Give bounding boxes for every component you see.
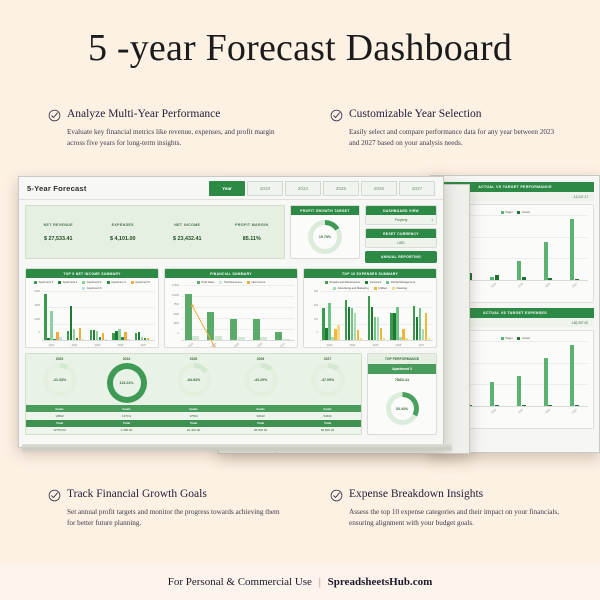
chart-top-10-expenses-summary: TOP 10 EXPENSES SUMMARY Repairs and Main… [303,268,437,348]
bar [102,333,104,340]
chart-legend: Total SalesTotal ExpensesNet Income [165,278,297,285]
bar-group [535,341,562,406]
chart-legend: Repairs and MaintenanceInsuranceRental M… [304,278,436,291]
bar [147,338,149,340]
check-circle-icon [48,489,61,502]
table-cell: 33643 [227,412,294,419]
check-circle-icon [330,489,343,502]
feature-title: Customizable Year Selection [349,108,482,121]
year-tab-2027[interactable]: 2027 [399,181,435,196]
y-axis-tick: 200 [314,305,318,308]
bar [383,338,385,340]
bar [570,219,574,280]
goal-donut-year: 2023 [56,357,64,361]
profit-growth-gauge: 15.78% [308,220,342,254]
legend-item: Apartment 5 [131,281,150,284]
dashboard-window: 5-Year Forecast Year20232024202520262027… [18,176,444,448]
goal-donut-label: -84.84% [187,378,200,382]
feature-body: Set annual profit targets and monitor th… [67,507,283,529]
bar [59,337,61,341]
kpi-net-revenue: NET REVENUE $ 27,533.41 [26,223,91,242]
bar [425,313,427,340]
bar-group [64,291,87,340]
bar [99,337,101,340]
table-cell: 17563 [160,412,227,419]
y-axis-tick: 0 [178,333,179,336]
bar [544,358,548,406]
goals-row: 2023-21.33%2024113.24%2025-84.84%2026-43… [25,353,437,435]
bar-group [110,291,133,340]
bar [144,338,146,340]
chart-title: TOP 10 EXPENSES SUMMARY [304,269,436,278]
bar [357,330,359,340]
x-axis-label: 2027 [132,343,155,347]
legend-item: Repairs and Maintenance [325,281,360,284]
year-tab-2026[interactable]: 2026 [361,181,397,196]
table-cell: 60,800.00 [294,427,361,434]
dashboard-view-value: Property [395,218,408,222]
footer-usage-text: For Personal & Commercial Use [168,576,312,588]
legend-item: Actual [517,337,529,340]
table-cell: Goals [294,405,361,412]
bar [82,339,84,340]
legend-item: Apartment 2 [34,281,53,284]
bar-group [481,341,508,406]
table-cell: 2,480.00 [93,427,160,434]
footer: For Personal & Commercial Use | Spreadsh… [0,564,600,600]
chart-financial-summary: FINANCIAL SUMMARY Total SalesTotal Expen… [164,268,298,348]
bar [328,303,330,340]
annual-reporting-button[interactable]: ANNUAL REPORTING [365,251,437,263]
bar-group [388,291,411,340]
top-performance-gauge: 33.44% [386,392,419,425]
table-cell: 26,400.00 [160,427,227,434]
y-axis-tick: 4000 [34,305,40,308]
bar [93,330,95,340]
chart-title: FINANCIAL SUMMARY [165,269,297,278]
bar [368,296,370,340]
year-tab-2023[interactable]: 2023 [247,181,283,196]
legend-item: Insurance [365,281,381,284]
legend-item: Apartment 6 [82,287,101,290]
total-value-row: 12750.002,480.0026,400.0048,900.0060,800… [26,427,361,434]
stack-shadow [22,444,452,453]
bar [570,345,574,406]
bar-group [365,291,388,340]
footer-brand[interactable]: SpreadsheetsHub.com [328,576,433,588]
goal-donut-label: -21.33% [53,378,66,382]
top-performance-value: 7883.41 [368,374,436,383]
bar [351,308,353,340]
x-axis-label: 2027 [410,343,433,347]
table-cell: 1373.4 [93,412,160,419]
charts-row: TOP 5 NET INCOME SUMMARY Apartment 2Apar… [25,268,437,348]
goal-donut-year: 2027 [324,357,332,361]
kpi-profit-margin: PROFIT MARGIN 85.11% [220,223,285,242]
chevron-down-icon: ▾ [431,218,433,222]
bar-group [87,291,110,340]
table-cell: Goals [93,405,160,412]
feature-title: Track Financial Growth Goals [67,488,207,501]
year-tab-2024[interactable]: 2024 [285,181,321,196]
bar [67,331,69,340]
x-axis-label: 2023 [318,343,341,347]
y-axis-tick: 10000 [172,295,179,298]
kpi-net-income: NET INCOME $ 23,432.41 [155,223,220,242]
x-axis-label: 2026 [387,343,410,347]
bar [345,300,347,340]
bar [337,325,339,340]
page-title: 5 -year Forecast Dashboard [0,26,600,70]
bar [517,376,521,406]
goal-value-row: 108001373.4175633364354600 [26,412,361,419]
feature-body: Evaluate key financial metrics like reve… [67,127,283,149]
legend-item: Cleaning [392,287,407,290]
table-cell: 10800 [26,412,93,419]
goal-donut-year: 2025 [190,357,198,361]
bar [405,338,407,340]
check-circle-icon [330,109,343,122]
y-axis-tick: 6000 [34,291,40,294]
bar [422,329,424,340]
total-header-row: TotalTotalTotalTotalTotal [26,420,361,427]
legend-item: Target [501,211,513,214]
bar [377,317,379,340]
dashboard-title: 5-Year Forecast [27,184,87,193]
legend-item: Apartment 1 [82,281,101,284]
bar-group [561,215,588,280]
goal-donut: -84.84% [177,363,211,397]
table-cell: Goals [227,405,294,412]
table-cell: Total [227,420,294,427]
bar [44,294,46,340]
top-performance-title: TOP PERFORMANCE [368,354,436,364]
bar [544,242,548,280]
y-axis-tick: 100 [314,319,318,322]
goal-donut-year: 2026 [257,357,265,361]
bar [374,317,376,340]
legend-item: Utilities [374,287,387,290]
bar [96,331,98,340]
table-cell: 12750.00 [26,427,93,434]
chart-title: TOP 5 NET INCOME SUMMARY [26,269,158,278]
dashboard-screenshot-stack: ACTUAL VS TARGET PERFORMANCE Under the g… [18,176,442,458]
legend-item: Apartment 4 [58,281,77,284]
feature-title: Expense Breakdown Insights [349,488,483,501]
legend-item: Apartment 3 [107,281,126,284]
y-axis-tick: 12500 [172,285,179,288]
performance-status-value: -13,247.17 [573,195,588,199]
bar [490,277,494,280]
reset-currency-select[interactable]: RESET CURRENCY USD [365,228,437,248]
bar [428,338,430,340]
bar [348,307,350,340]
feature-title: Analyze Multi-Year Performance [67,108,220,121]
kpi-panel: NET REVENUE $ 27,533.41 EXPENSES $ 4,101… [25,205,285,259]
y-axis-tick: 0 [317,332,318,335]
x-axis-label: 2024 [63,343,86,347]
feature-customizable-year-selection: Customizable Year Selection Easily selec… [330,108,565,149]
page-root: 5 -year Forecast Dashboard Analyze Multi… [0,0,600,600]
feature-analyze-multi-year-performance: Analyze Multi-Year Performance Evaluate … [48,108,283,149]
bar [127,339,129,340]
goal-donut-label: -47.09% [321,378,334,382]
bar-group [481,215,508,280]
goal-donut-cell: 2025-84.84% [160,354,227,405]
bar [354,313,356,340]
table-cell: 54600 [294,412,361,419]
bar [90,330,92,340]
top-performance-subject: Apartment 3 [368,364,436,374]
year-tab-group[interactable]: Year20232024202520262027 [209,181,435,196]
table-cell: Total [160,420,227,427]
feature-body: Assess the top 10 expense categories and… [349,507,565,529]
bar [50,311,52,340]
bar [371,307,373,340]
bar-group [508,215,535,280]
table-cell: 48,900.00 [227,427,294,434]
top-performance-card: TOP PERFORMANCE Apartment 3 7883.41 33.4… [367,353,437,435]
legend-item: Total Sales [197,281,215,284]
bar [70,306,72,340]
table-cell: Goals [160,405,227,412]
y-axis-tick: 5000 [173,314,179,317]
legend-item: Net Income [247,281,265,284]
y-axis-tick: 0 [39,332,40,335]
legend-item: Advertising and Marketing [333,287,369,290]
legend-item: Target [501,337,513,340]
bar-group [42,291,65,340]
legend-item: Total Expenses [219,281,242,284]
check-circle-icon [48,109,61,122]
x-axis-label: 2024 [341,343,364,347]
bar-group [410,291,433,340]
bar [124,332,126,340]
bar-group [320,291,343,340]
profit-growth-target-title: PROFIT GROWTH TARGET [291,206,359,215]
bar [380,328,382,340]
table-cell: Total [294,420,361,427]
legend-item: Rental Management [386,281,415,284]
feature-body: Easily select and compare performance da… [349,127,565,149]
goal-donut-cell: 2024113.24% [93,354,160,405]
bar [490,382,494,406]
year-tab-year[interactable]: Year [209,181,245,196]
chart-top-5-net-income-summary: TOP 5 NET INCOME SUMMARY Apartment 2Apar… [25,268,159,348]
year-tab-2025[interactable]: 2025 [323,181,359,196]
y-axis-tick: 7500 [173,304,179,307]
bar-group [561,341,588,406]
annual-goal-progress-panel: 2023-21.33%2024113.24%2025-84.84%2026-43… [25,353,362,435]
footer-separator: | [319,576,321,588]
kpi-row: NET REVENUE $ 27,533.41 EXPENSES $ 4,101… [25,205,437,263]
bar [360,338,362,340]
bar-group [535,215,562,280]
bar-group [132,291,155,340]
goal-donut-label: 113.24% [120,381,134,385]
table-cell: Total [93,420,160,427]
y-axis-tick: 2000 [34,319,40,322]
goal-donut-cell: 2027-47.09% [294,354,361,405]
dashboard-view-select[interactable]: DASHBOARD VIEW Property ▾ [365,205,437,225]
y-axis-tick: 2500 [173,323,179,326]
goal-header-row: GoalsGoalsGoalsGoalsGoals [26,405,361,412]
feature-track-financial-growth-goals: Track Financial Growth Goals Set annual … [48,488,283,529]
goal-donut: 113.24% [107,363,147,403]
x-axis-label: 2025 [86,343,109,347]
dashboard-controls: DASHBOARD VIEW Property ▾ RESET CURRENCY… [365,205,437,263]
x-axis-label: 2023 [40,343,63,347]
bar [76,338,78,340]
bar [517,261,521,281]
goal-donut-year: 2024 [123,357,131,361]
x-axis-label: 2025 [364,343,387,347]
bar-group [342,291,365,340]
bar [396,307,398,340]
goal-donut-cell: 2026-43.29% [227,354,294,405]
kpi-expenses: EXPENSES $ 4,101.00 [91,223,156,242]
reset-currency-value: USD [397,241,404,245]
expenses-status-value: -182,397.00 [571,321,588,325]
table-cell: Goals [26,405,93,412]
goal-donut: -43.29% [244,363,278,397]
goal-donut-label: -43.29% [254,378,267,382]
bar [105,339,107,340]
goal-donut: -21.33% [43,363,77,397]
x-axis-label: 2026 [109,343,132,347]
goal-donut: -47.09% [311,363,345,397]
bar-group [508,341,535,406]
feature-expense-breakdown-insights: Expense Breakdown Insights Assess the to… [330,488,565,529]
legend-item: Actual [517,211,529,214]
goal-donut-cell: 2023-21.33% [26,354,93,405]
dashboard-topbar: 5-Year Forecast Year20232024202520262027 [19,177,443,200]
chart-legend: Apartment 2Apartment 4Apartment 1Apartme… [26,278,158,291]
y-axis-tick: 300 [314,291,318,294]
profit-growth-target-card: PROFIT GROWTH TARGET 15.78% [290,205,360,259]
bar [79,328,81,340]
table-cell: Total [26,420,93,427]
bar [73,329,75,340]
